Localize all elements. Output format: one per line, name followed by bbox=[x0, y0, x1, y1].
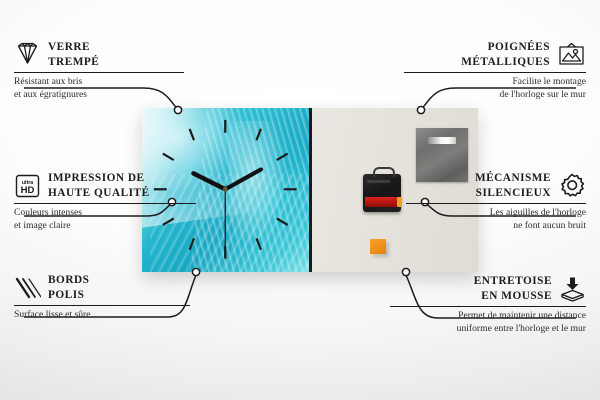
foam-spacer-icon bbox=[559, 276, 586, 302]
feature-header: ENTRETOISE EN MOUSSE bbox=[378, 274, 586, 303]
svg-text:HD: HD bbox=[21, 185, 35, 196]
feature-header: ultra HD IMPRESSION DE HAUTE QUALITÉ bbox=[14, 171, 214, 200]
feature-header: VERRE TREMPÉ bbox=[14, 40, 204, 69]
hands-center-cap bbox=[223, 187, 228, 192]
picture-hanger-icon bbox=[557, 42, 586, 68]
feature-impression-haute-qualite: ultra HD IMPRESSION DE HAUTE QUALITÉ Cou… bbox=[14, 171, 214, 232]
ultra-hd-icon: ultra HD bbox=[14, 173, 41, 199]
infographic-canvas: VERRE TREMPÉ Résistant aux bris et aux é… bbox=[0, 0, 600, 400]
feature-poignees-metalliques: POIGNÉES MÉTALLIQUES Facilite le montage… bbox=[386, 40, 586, 101]
feature-divider bbox=[390, 306, 586, 307]
feature-verre-trempe: VERRE TREMPÉ Résistant aux bris et aux é… bbox=[14, 40, 204, 101]
feature-title: BORDS POLIS bbox=[48, 273, 89, 302]
polished-edges-icon bbox=[14, 276, 41, 300]
feature-divider bbox=[406, 203, 586, 204]
feature-divider bbox=[404, 72, 586, 73]
feature-title: MÉCANISME SILENCIEUX bbox=[475, 171, 551, 200]
feature-title: POIGNÉES MÉTALLIQUES bbox=[461, 40, 550, 69]
hanger-slot bbox=[428, 137, 456, 144]
feature-header: MÉCANISME SILENCIEUX bbox=[388, 171, 586, 200]
orange-foam-spacer bbox=[370, 239, 386, 254]
feature-title: IMPRESSION DE HAUTE QUALITÉ bbox=[48, 171, 150, 200]
feature-entretoise-en-mousse: ENTRETOISE EN MOUSSE Permet de maintenir… bbox=[378, 274, 586, 335]
feature-mecanisme-silencieux: MÉCANISME SILENCIEUX Les aiguilles de l'… bbox=[388, 171, 586, 232]
feature-bords-polis: BORDS POLIS Surface lisse et sûre bbox=[14, 273, 204, 322]
feature-divider bbox=[14, 305, 190, 306]
feature-divider bbox=[14, 72, 184, 73]
gear-icon bbox=[558, 172, 586, 199]
feature-divider bbox=[14, 203, 196, 204]
feature-header: BORDS POLIS bbox=[14, 273, 204, 302]
feature-title: VERRE TREMPÉ bbox=[48, 40, 99, 69]
mechanism-label bbox=[367, 180, 391, 184]
diamond-icon bbox=[14, 42, 41, 67]
feature-title: ENTRETOISE EN MOUSSE bbox=[474, 274, 552, 303]
feature-header: POIGNÉES MÉTALLIQUES bbox=[386, 40, 586, 69]
minute-hand bbox=[225, 169, 261, 189]
